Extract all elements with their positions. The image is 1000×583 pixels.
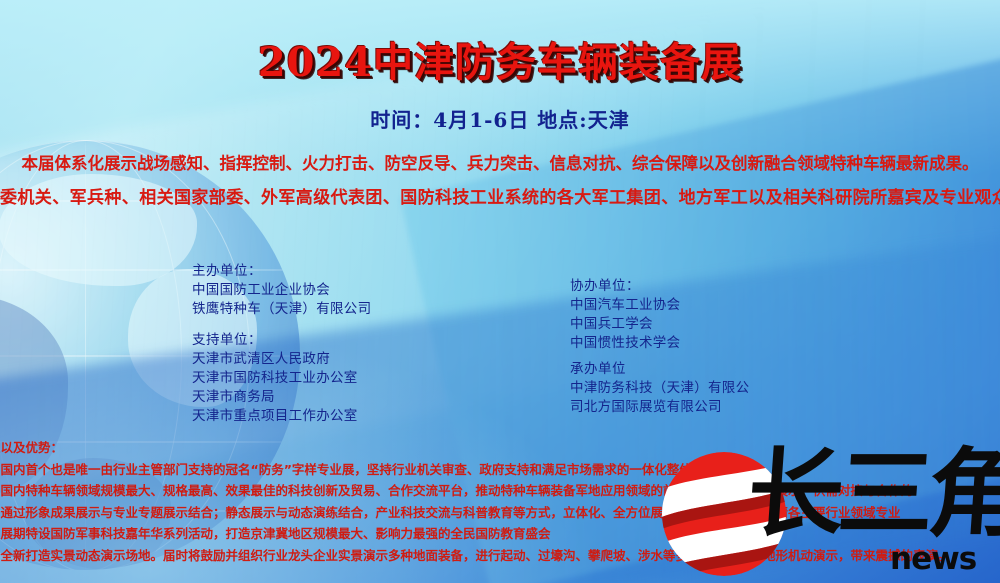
highlight-line-2: 委机关、军兵种、相关国家部委、外军高级代表团、国防科技工业系统的各大军工集团、地… [0,183,1000,208]
undertaker-item: 中津防务科技（天津）有限公 [570,379,749,398]
poster-subtitle-date-location: 时间：4月1-6日 地点:天津 [0,104,1000,133]
support-organizer-item: 天津市重点项目工作办公室 [192,407,358,426]
support-organizer-item: 天津市商务局 [192,388,358,407]
support-organizer-block: 支持单位： 天津市武清区人民政府 天津市国防科技工业办公室 天津市商务局 天津市… [192,331,358,426]
host-organizer-item: 铁鹰特种车（天津）有限公司 [192,300,371,319]
host-organizer-heading: 主办单位： [192,262,371,281]
coorganizer-heading: 协办单位： [570,277,680,296]
bottom-paragraph: 位以及优势： 、国内首个也是唯一由行业主管部门支持的冠名“防务”字样专业展，坚持… [0,437,1000,566]
poster-title: 2024中津防务车辆装备展 [0,30,1000,88]
undertaker-heading: 承办单位 [570,360,749,379]
bottom-paragraph-line: 、全新打造实景动态演示场地。届时将鼓励并组织行业龙头企业实景演示多种地面装备，进… [0,545,1000,567]
undertaker-item: 司北方国际展览有限公司 [570,398,749,417]
bottom-paragraph-line: 、国内首个也是唯一由行业主管部门支持的冠名“防务”字样专业展，坚持行业机关审查、… [0,459,1000,481]
highlight-line-1: 本届体系化展示战场感知、指挥控制、火力打击、防空反导、兵力突击、信息对抗、综合保… [0,150,1000,174]
coorganizer-item: 中国惯性技术学会 [570,334,680,353]
coorganizer-item: 中国汽车工业协会 [570,296,680,315]
coorganizer-item: 中国兵工学会 [570,315,680,334]
undertaker-block: 承办单位 中津防务科技（天津）有限公 司北方国际展览有限公司 [570,360,749,417]
bottom-paragraph-line: 、国内特种车辆领域规模最大、规格最高、效果最佳的科技创新及贸易、合作交流平台，推… [0,480,1000,502]
support-organizer-item: 天津市武清区人民政府 [192,350,358,369]
support-organizer-heading: 支持单位： [192,331,358,350]
exhibition-poster: 2024中津防务车辆装备展 时间：4月1-6日 地点:天津 本届体系化展示战场感… [0,0,1000,583]
bottom-paragraph-line: 、展期特设国防军事科技嘉年华系列活动，打造京津冀地区规模最大、影响力最强的全民国… [0,523,1000,545]
host-organizer-block: 主办单位： 中国国防工业企业协会 铁鹰特种车（天津）有限公司 [192,262,371,319]
bottom-paragraph-line: 、通过形象成果展示与专业专题展示结合；静态展示与动态演练结合，产业科技交流与科普… [0,502,1000,524]
coorganizer-block: 协办单位： 中国汽车工业协会 中国兵工学会 中国惯性技术学会 [570,277,680,353]
bottom-paragraph-line: 位以及优势： [0,437,1000,459]
host-organizer-item: 中国国防工业企业协会 [192,281,371,300]
support-organizer-item: 天津市国防科技工业办公室 [192,369,358,388]
